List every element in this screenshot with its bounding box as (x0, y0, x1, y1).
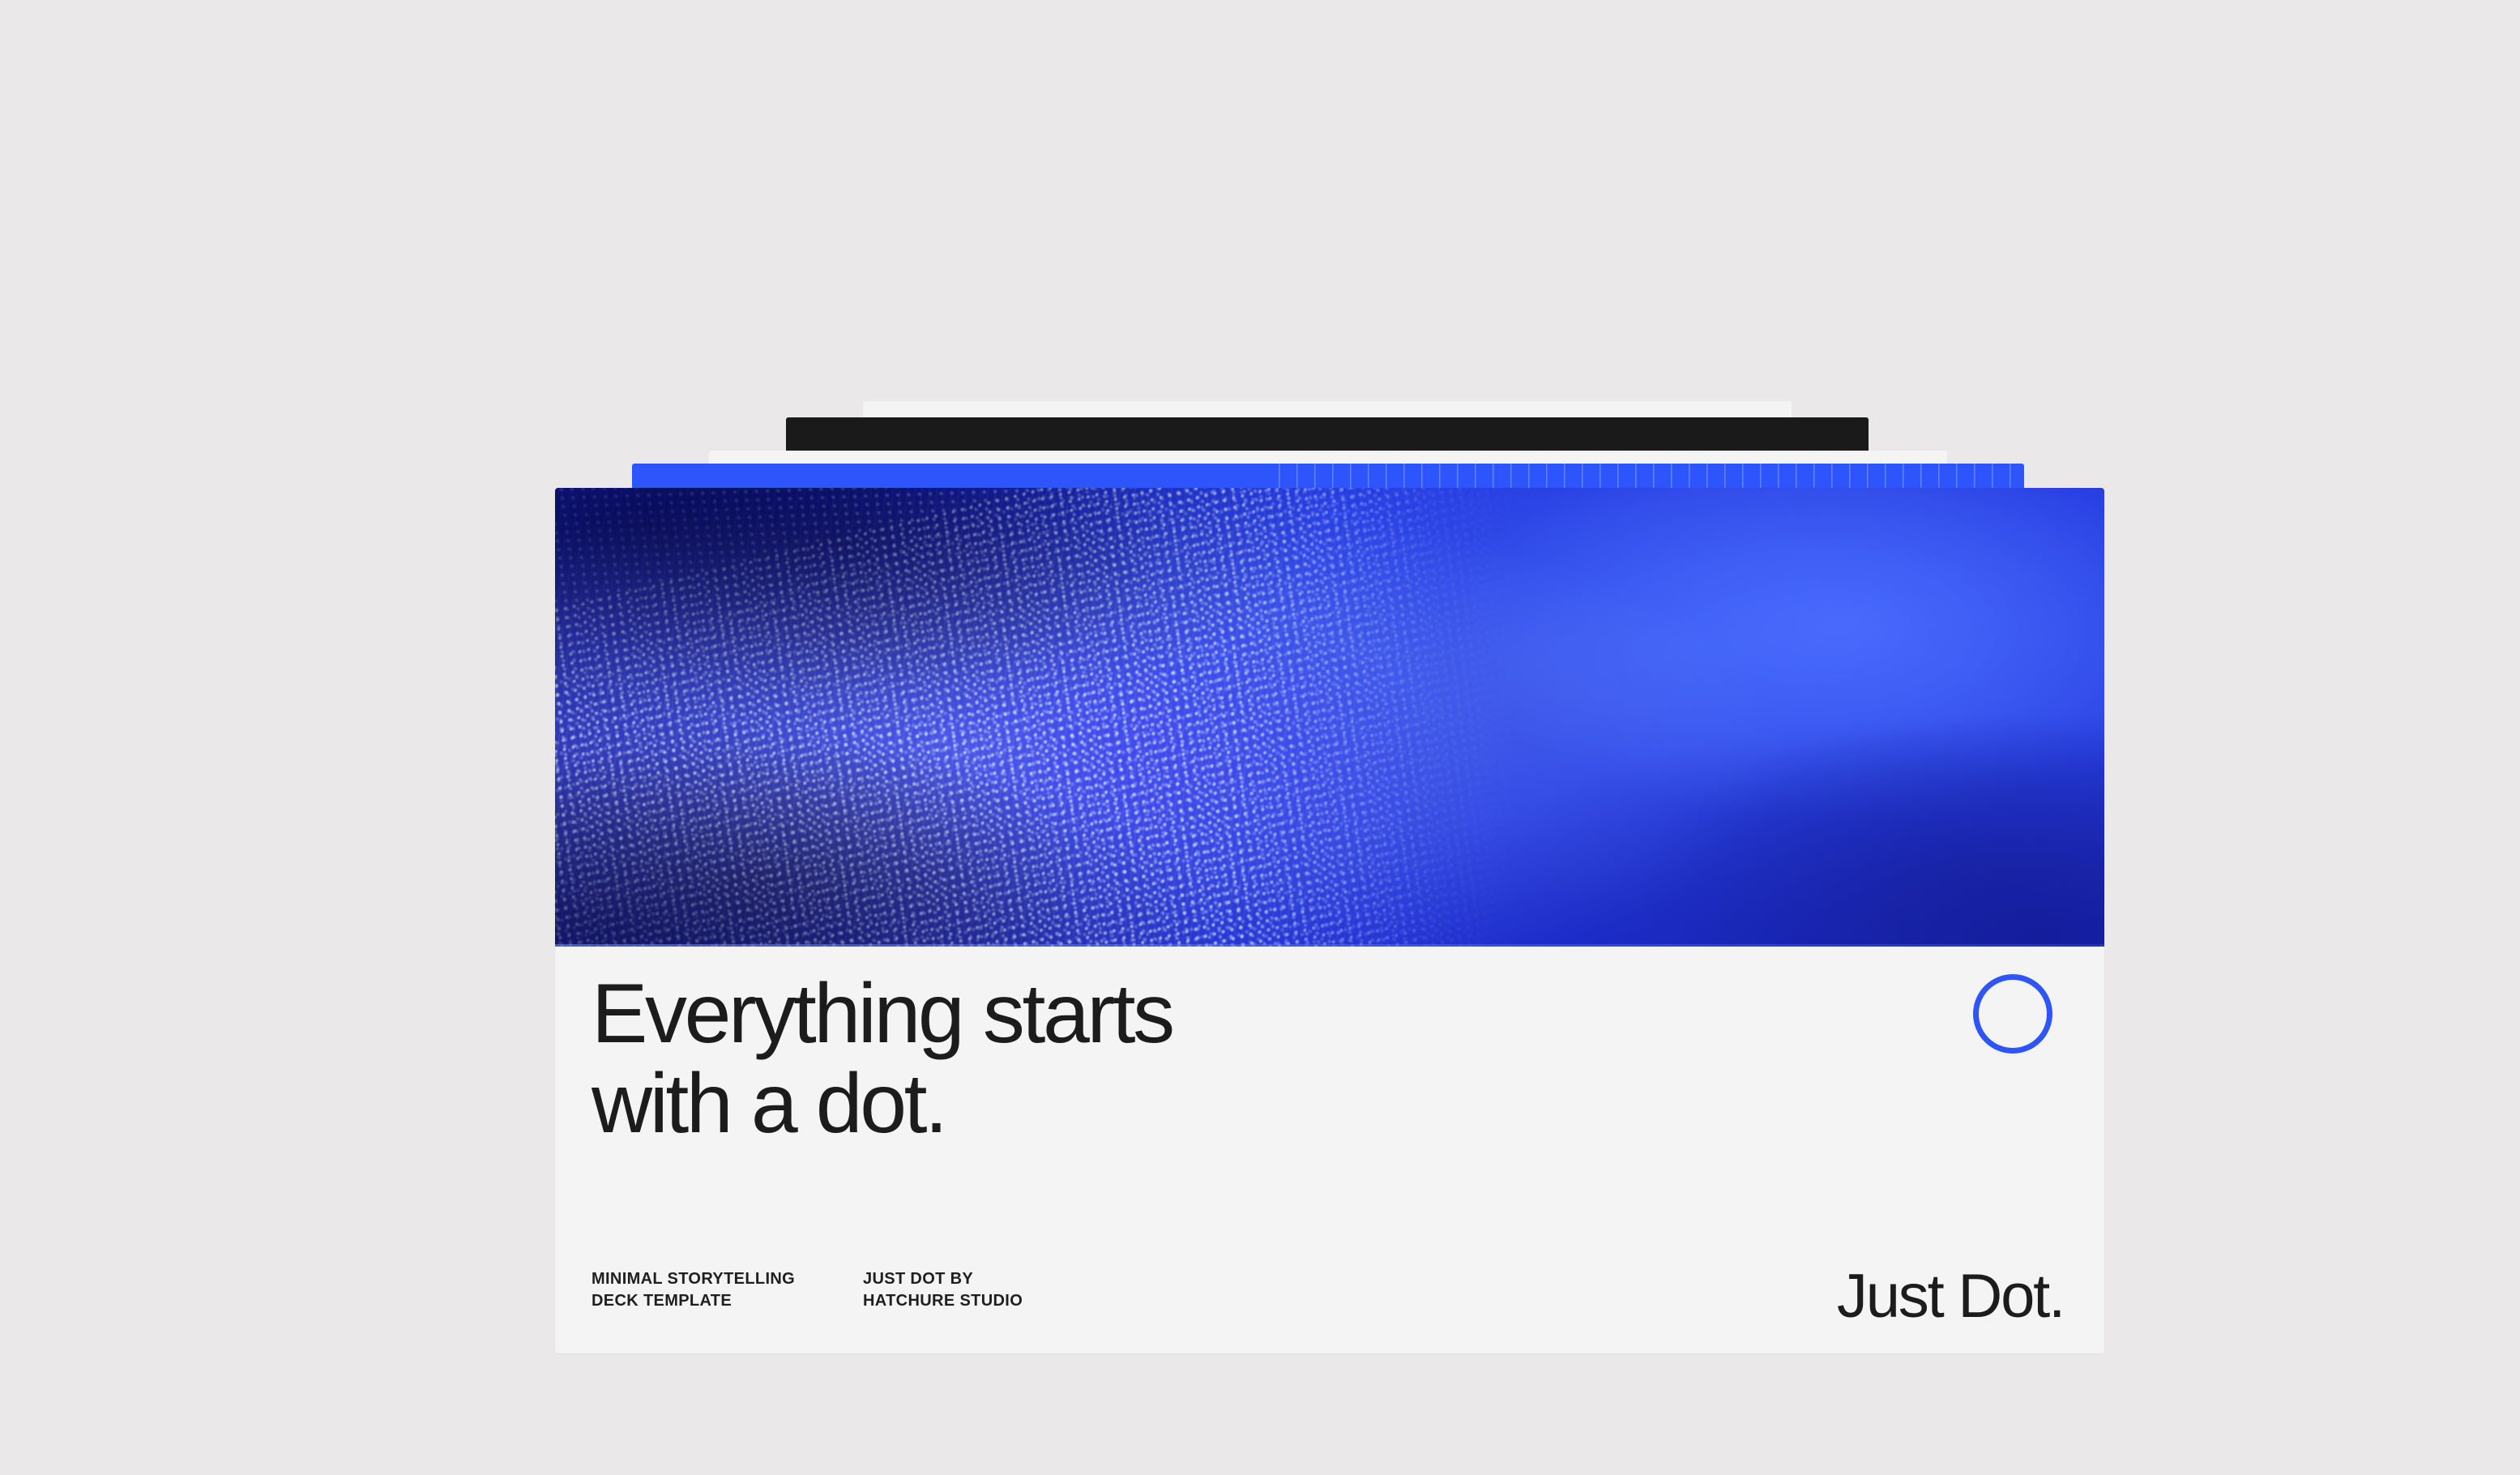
slide-meta-row: MINIMAL STORYTELLING DECK TEMPLATE JUST … (592, 1268, 1203, 1311)
slide-text-panel: Everything starts with a dot. MINIMAL ST… (555, 947, 2104, 1353)
meta-template-label: MINIMAL STORYTELLING DECK TEMPLATE (592, 1268, 863, 1311)
slide-card[interactable]: Everything starts with a dot. MINIMAL ST… (555, 488, 2104, 1353)
hero-dot-mesh (555, 488, 2104, 947)
blue-bar-ticks (1279, 464, 2024, 490)
circle-outline-icon (1973, 974, 2052, 1054)
page-title: Everything starts with a dot. (592, 969, 1172, 1150)
stack-layer-blue-bar (632, 464, 2024, 490)
hero-gradient-image (555, 488, 2104, 947)
slide-stage: Everything starts with a dot. MINIMAL ST… (0, 0, 2520, 1475)
dot-mesh-bands (555, 488, 2104, 947)
brand-wordmark: Just Dot. (1837, 1266, 2064, 1327)
meta-credit-label: JUST DOT BY HATCHURE STUDIO (863, 1268, 1203, 1311)
stack-layer-black-bar (786, 417, 1869, 453)
